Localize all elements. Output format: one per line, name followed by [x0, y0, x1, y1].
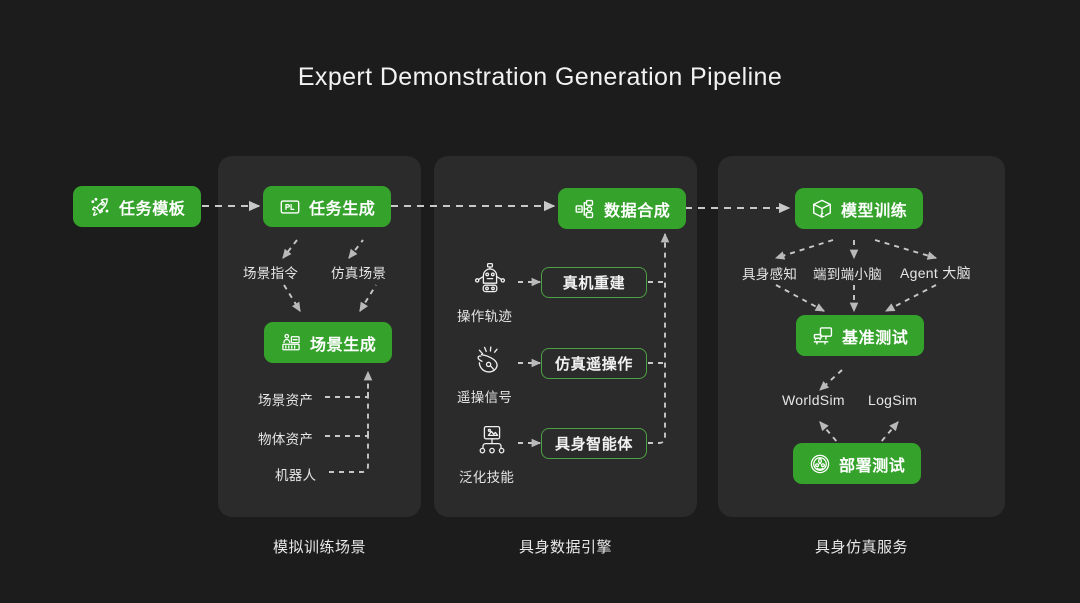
node-scene-generation[interactable]: 场景生成	[264, 322, 392, 363]
node-deployment-test[interactable]: 部署测试	[793, 443, 921, 484]
robot-icon	[470, 262, 510, 298]
node-label: 基准测试	[842, 324, 908, 348]
page-title: Expert Demonstration Generation Pipeline	[0, 63, 1080, 92]
cube-refresh-icon	[811, 198, 833, 220]
node-label: 部署测试	[839, 452, 905, 476]
deploy-seal-icon	[809, 453, 831, 475]
diagram-canvas: Expert Demonstration Generation Pipeline	[0, 0, 1080, 603]
node-label: 模型训练	[841, 197, 907, 221]
label-operation-trajectory: 操作轨迹	[457, 305, 512, 325]
node-data-synthesis[interactable]: 数据合成	[558, 188, 686, 229]
node-label: 数据合成	[604, 197, 670, 221]
label-agent-brain: Agent 大脑	[900, 263, 971, 283]
node-task-generation[interactable]: 任务生成	[263, 186, 391, 227]
network-node-icon	[472, 424, 512, 460]
node-label: 场景生成	[310, 331, 376, 355]
label-scene-instruction: 场景指令	[243, 262, 298, 282]
caption-simulation-training-scene: 模拟训练场景	[218, 536, 421, 557]
caption-embodied-simulation-service: 具身仿真服务	[718, 536, 1005, 557]
label-worldsim: WorldSim	[782, 392, 845, 408]
label-logsim: LogSim	[868, 392, 917, 408]
glove-icon	[470, 345, 510, 381]
label-embodied-perception: 具身感知	[742, 263, 797, 283]
pl-frame-icon	[279, 196, 301, 218]
caption-embodied-data-engine: 具身数据引擎	[434, 536, 697, 557]
monitor-icon	[812, 325, 834, 347]
data-synthesis-icon	[574, 198, 596, 220]
label-simulation-scene: 仿真场景	[331, 262, 386, 282]
box-simulated-teleoperation[interactable]: 仿真遥操作	[541, 348, 647, 379]
node-label: 任务生成	[309, 195, 375, 219]
node-model-training[interactable]: 模型训练	[795, 188, 923, 229]
label-generalization-skill: 泛化技能	[459, 466, 514, 486]
label-teleoperation-signal: 遥操信号	[457, 386, 512, 406]
rocket-icon	[89, 196, 111, 218]
label-end-to-end-cerebellum: 端到端小脑	[813, 263, 882, 283]
box-real-machine-reconstruction[interactable]: 真机重建	[541, 267, 647, 298]
label-robot: 机器人	[275, 464, 316, 484]
label-object-assets: 物体资产	[258, 428, 313, 448]
label-scene-assets: 场景资产	[258, 389, 313, 409]
node-task-template[interactable]: 任务模板	[73, 186, 201, 227]
node-label: 任务模板	[119, 195, 185, 219]
box-embodied-agent[interactable]: 具身智能体	[541, 428, 647, 459]
scene-generate-icon	[280, 332, 302, 354]
node-benchmark-test[interactable]: 基准测试	[796, 315, 924, 356]
